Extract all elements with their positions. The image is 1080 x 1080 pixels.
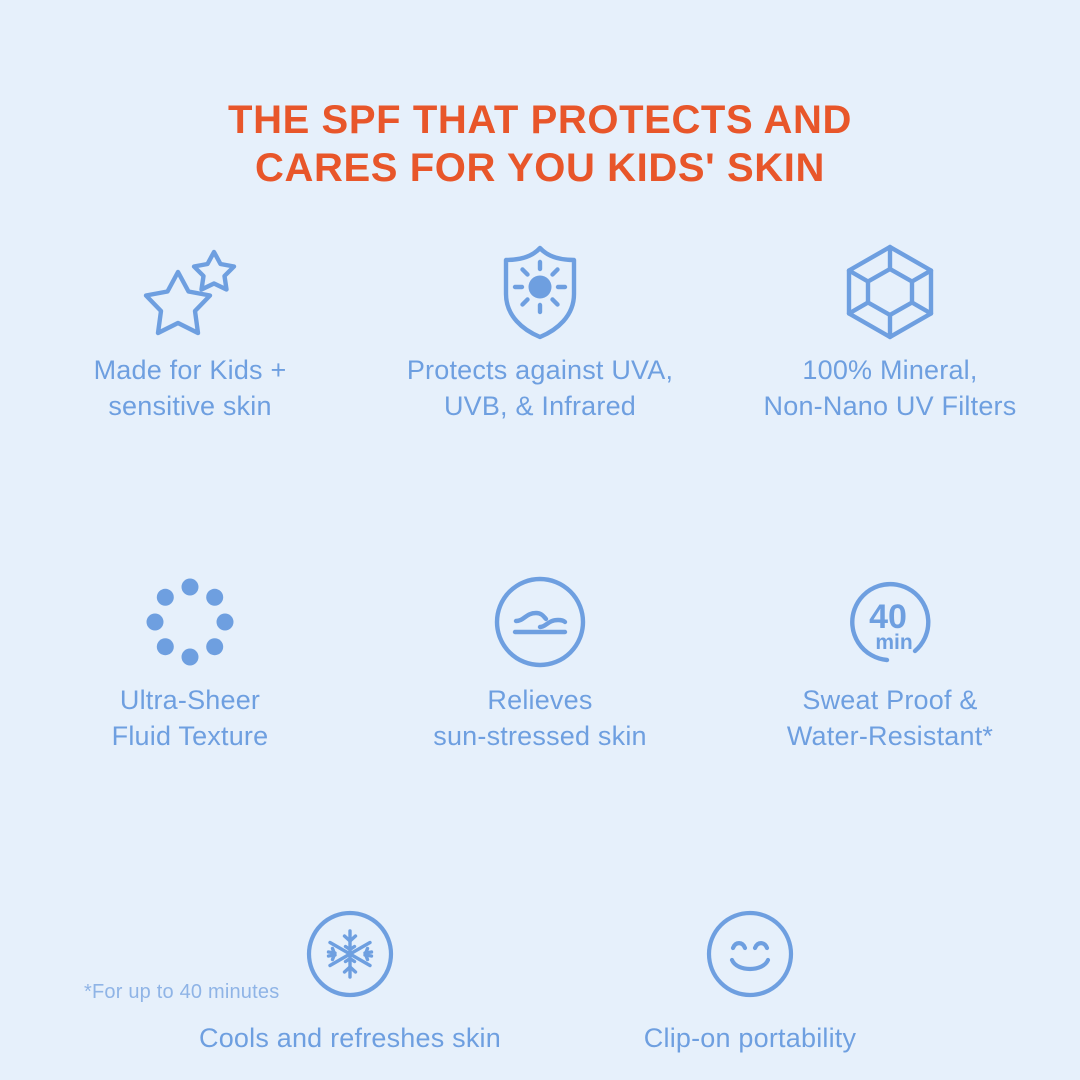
feature-grid: Made for Kids + sensitive skin [0,240,1080,1056]
hexagon-crystal-icon [840,240,940,344]
feature-caption: Protects against UVA, UVB, & Infrared [407,352,673,424]
feature-caption: Ultra-Sheer Fluid Texture [112,682,269,754]
feature-item-relieves-sun-stress: Relieves sun-stressed skin [365,570,715,754]
infographic-page: THE SPF THAT PROTECTS AND CARES FOR YOU … [0,0,1080,1080]
page-title-line-1: THE SPF THAT PROTECTS AND [0,96,1080,144]
feature-item-made-for-kids: Made for Kids + sensitive skin [15,240,365,424]
feature-caption: Clip-on portability [644,1020,856,1056]
feature-item-clip-on-portability: Clip-on portability [550,902,950,1056]
shield-sun-icon [495,240,585,344]
double-star-icon [138,240,242,344]
feature-item-mineral-filters: 100% Mineral, Non-Nano UV Filters [715,240,1065,424]
badge-unit: min [875,631,912,654]
feature-row-2: Ultra-Sheer Fluid Texture Relieves sun-s… [0,570,1080,754]
page-title-line-2: CARES FOR YOU KIDS' SKIN [0,144,1080,192]
dotted-circle-icon [144,570,236,674]
footnote: *For up to 40 minutes [84,978,279,1006]
snowflake-circle-icon [306,902,394,1006]
feature-caption: Cools and refreshes skin [199,1020,501,1056]
feature-item-protects-uva: Protects against UVA, UVB, & Infrared [365,240,715,424]
waves-circle-icon [494,570,586,674]
feature-item-ultra-sheer: Ultra-Sheer Fluid Texture [15,570,365,754]
feature-item-sweat-proof: 40 min Sweat Proof & Water-Resistant* [715,570,1065,754]
feature-row-1: Made for Kids + sensitive skin [0,240,1080,424]
smiley-face-icon [706,902,794,1006]
feature-caption: 100% Mineral, Non-Nano UV Filters [764,352,1017,424]
page-title: THE SPF THAT PROTECTS AND CARES FOR YOU … [0,96,1080,192]
feature-caption: Made for Kids + sensitive skin [94,352,287,424]
feature-caption: Relieves sun-stressed skin [433,682,646,754]
feature-caption: Sweat Proof & Water-Resistant* [787,682,993,754]
forty-minutes-icon: 40 min [843,570,937,674]
